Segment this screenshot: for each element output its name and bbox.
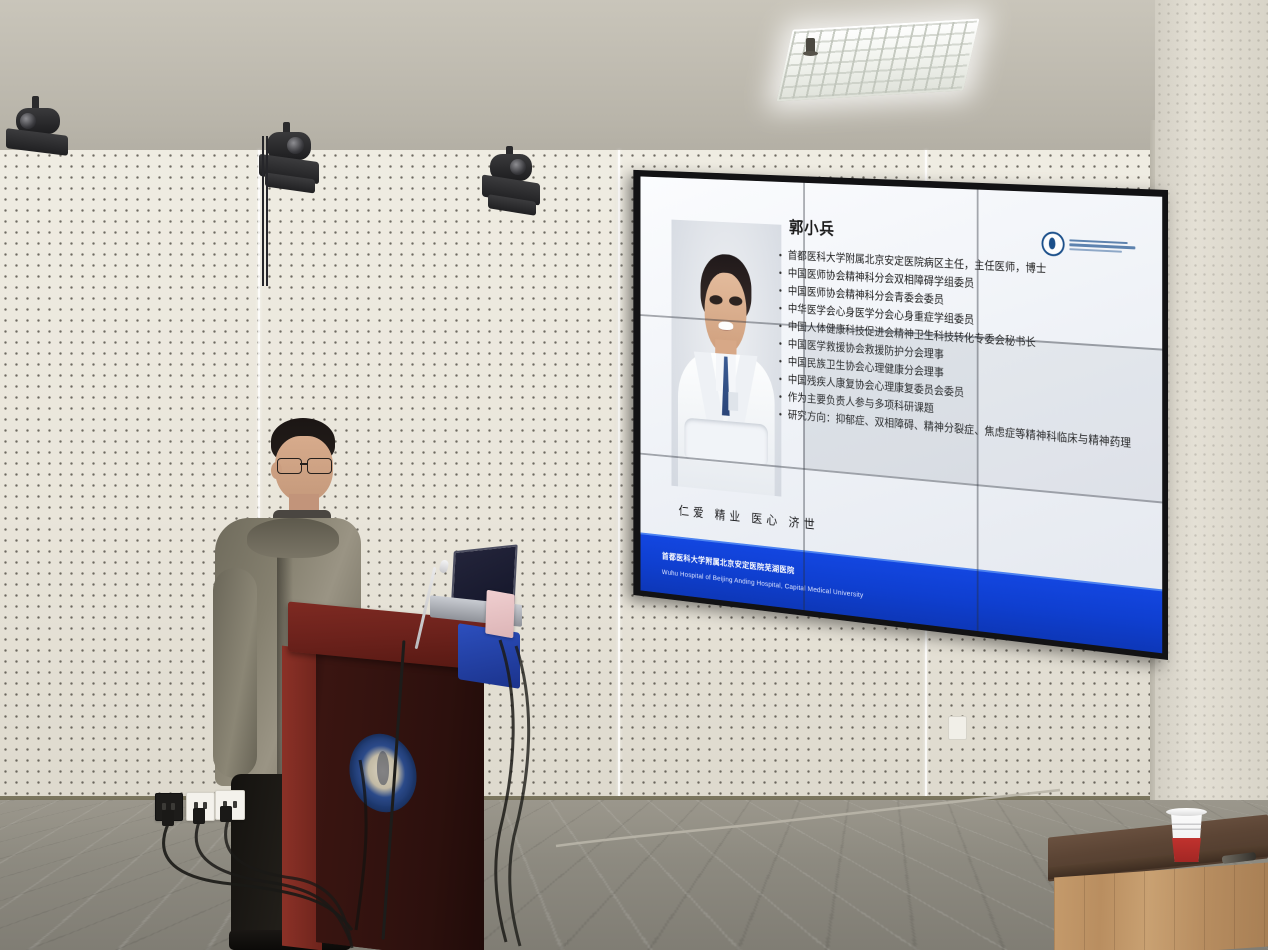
camera-cable xyxy=(266,136,268,286)
table-front-panel xyxy=(1054,863,1268,950)
bullet-icon: • xyxy=(779,336,782,352)
camera-cable xyxy=(262,136,264,286)
power-plug xyxy=(162,810,174,826)
presentation-slide: 郭小兵 •首都医科大学附属北京安定医院病区主任，主任医师，博士 •中国医师协会精… xyxy=(640,176,1162,653)
speaker-portrait-photo xyxy=(671,219,781,496)
side-wall xyxy=(1155,0,1268,880)
camera-lens-icon xyxy=(20,113,36,129)
podium xyxy=(282,612,514,950)
hospital-slogan: 仁爱 精业 医心 济世 xyxy=(679,501,819,533)
panel-bezel-seam xyxy=(803,183,805,610)
paper-cup-text xyxy=(1172,820,1202,830)
bullet-icon: • xyxy=(779,265,782,281)
video-wall-screen[interactable]: 郭小兵 •首都医科大学附属北京安定医院病区主任，主任医师，博士 •中国医师协会精… xyxy=(640,176,1162,653)
bullet-icon: • xyxy=(779,372,782,388)
paper-cup-rim xyxy=(1166,808,1207,816)
panel-bezel-seam xyxy=(977,190,979,632)
wall-data-plate-icon xyxy=(948,716,967,740)
bullet-icon: • xyxy=(779,301,782,317)
presenter-sleeve xyxy=(213,568,257,778)
jacket-hood xyxy=(247,518,339,558)
power-plug xyxy=(193,808,205,824)
bullet-icon: • xyxy=(779,354,782,370)
logo-wordmark xyxy=(1069,239,1135,254)
side-table xyxy=(1048,826,1268,950)
ptz-camera-left xyxy=(6,96,72,168)
speaker-name: 郭小兵 xyxy=(789,214,835,240)
power-plug xyxy=(220,806,232,822)
bullet-icon: • xyxy=(779,389,782,405)
bullet-icon: • xyxy=(779,319,782,335)
bullet-icon: • xyxy=(779,248,782,264)
glasses-icon xyxy=(277,458,333,473)
logo-emblem-icon xyxy=(1041,231,1064,257)
ptz-camera-right xyxy=(478,146,544,228)
lecture-room-photo: 郭小兵 •首都医科大学附属北京安定医院病区主任，主任医师，博士 •中国医师协会精… xyxy=(0,0,1268,950)
video-wall[interactable]: 郭小兵 •首都医科大学附属北京安定医院病区主任，主任医师，博士 •中国医师协会精… xyxy=(633,170,1168,660)
bullet-icon: • xyxy=(779,283,782,299)
panel-brightness-variation xyxy=(977,337,1162,502)
sprinkler-head-icon xyxy=(806,38,815,54)
perforation-pattern xyxy=(1155,0,1268,880)
camera-lens-icon xyxy=(510,159,526,175)
wall-panel-seam xyxy=(618,150,620,810)
camera-lens-icon xyxy=(287,137,304,154)
name-card xyxy=(485,590,515,639)
bullet-icon: • xyxy=(779,407,782,423)
ceiling-light-fixture xyxy=(776,18,979,101)
panel-brightness-variation xyxy=(803,325,977,484)
